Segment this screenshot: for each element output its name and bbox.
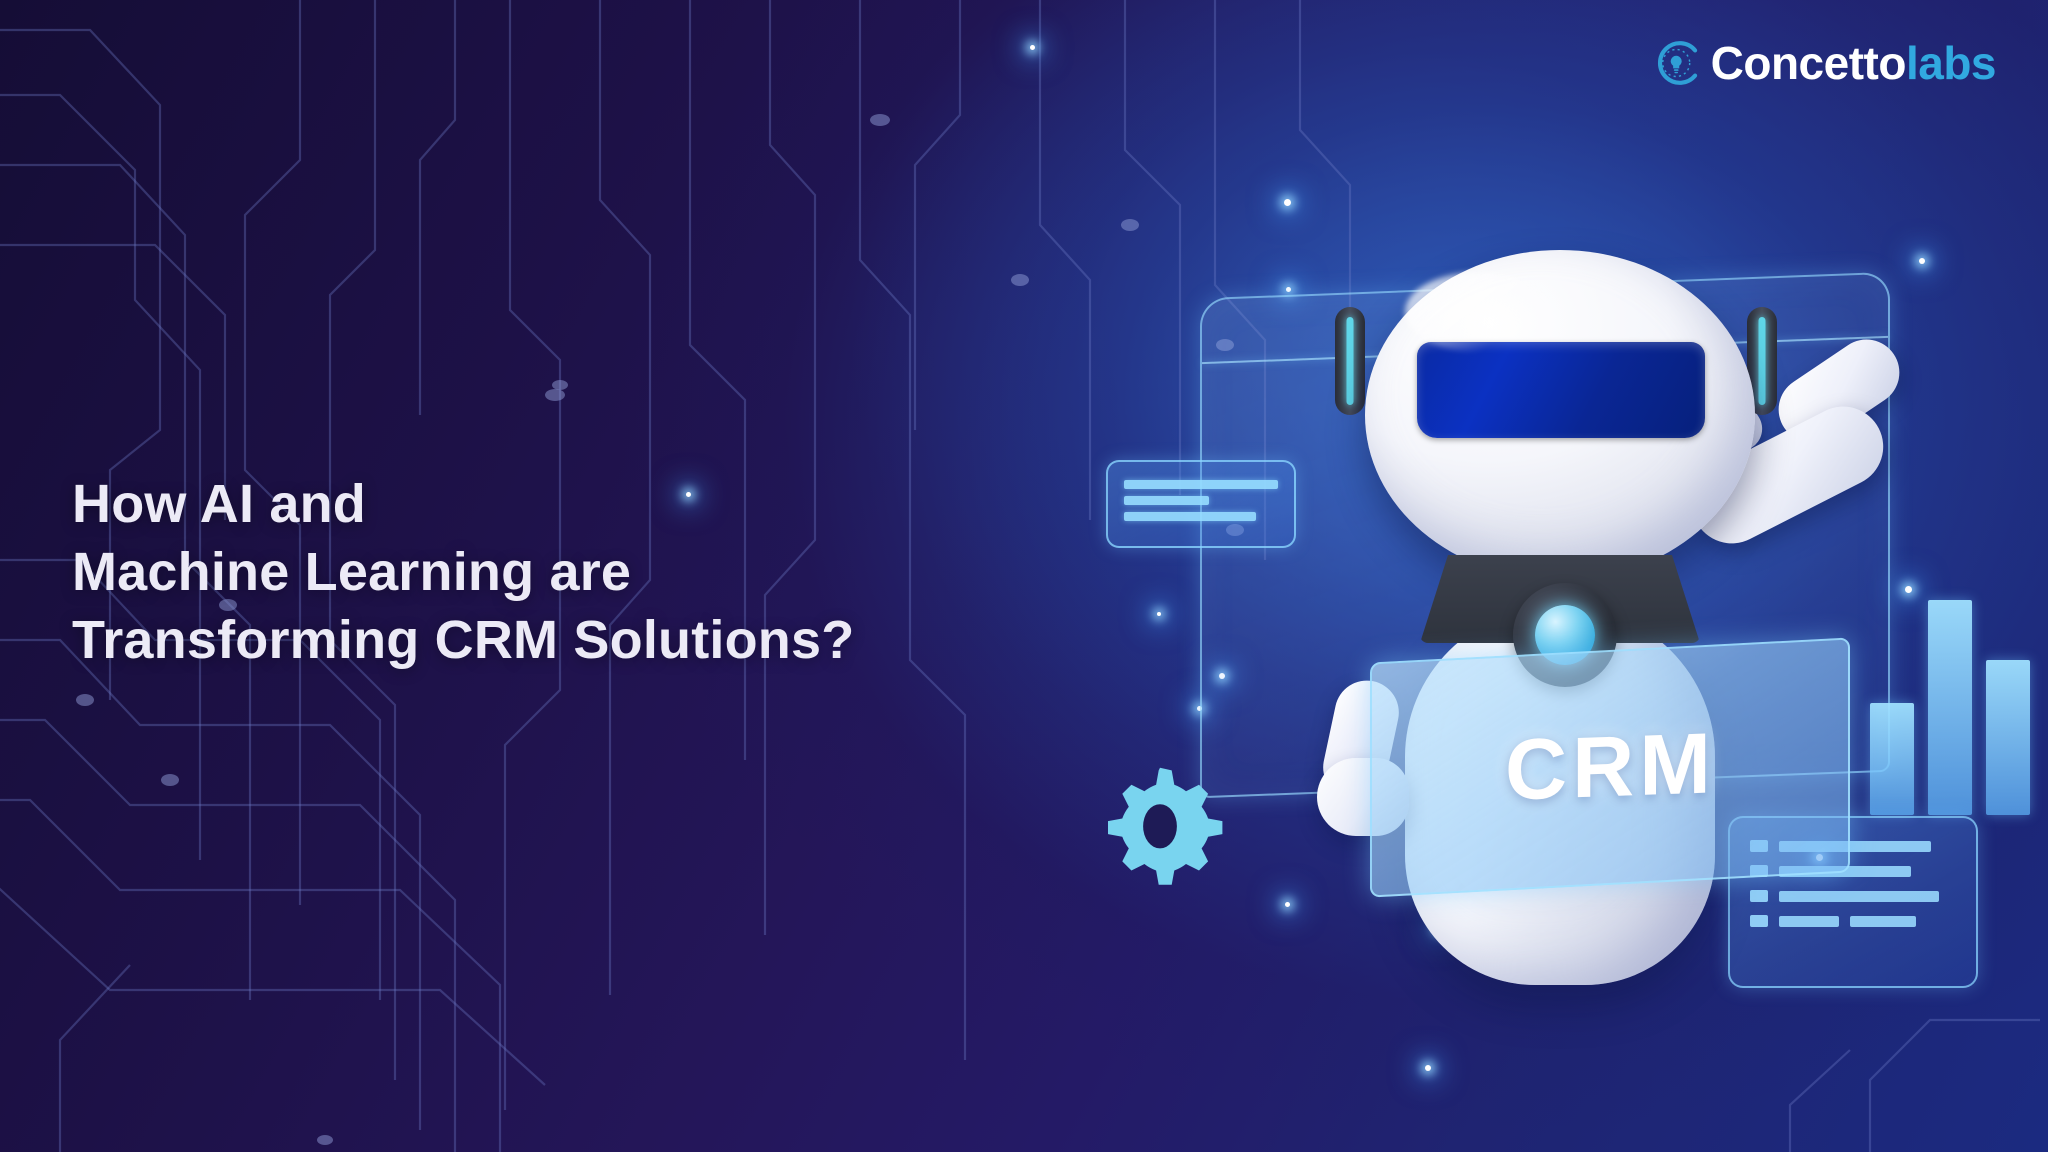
robot-head	[1365, 250, 1755, 580]
head-highlight	[1405, 272, 1555, 352]
card-bar	[1124, 512, 1256, 521]
headline-line-2: Machine Learning are	[72, 538, 854, 606]
card-bar	[1124, 480, 1278, 489]
checklist-line	[1850, 916, 1916, 927]
chart-bar	[1870, 703, 1914, 815]
text-lines-card	[1106, 460, 1296, 548]
robot-ear-left	[1335, 307, 1365, 415]
chart-bar	[1986, 660, 2030, 815]
ai-robot-mascot: CRM	[1295, 155, 1815, 985]
ear-light	[1759, 317, 1766, 405]
ear-light	[1347, 317, 1354, 405]
page-title: How AI and Machine Learning are Transfor…	[72, 470, 854, 674]
headline-line-1: How AI and	[72, 470, 854, 538]
headline-line-3: Transforming CRM Solutions?	[72, 606, 854, 674]
glow-particle	[1030, 45, 1035, 50]
robot-visor	[1417, 342, 1705, 438]
crm-label: CRM	[1505, 714, 1716, 820]
hero-illustration: CRM	[1040, 60, 2048, 1152]
chart-bar	[1928, 600, 1972, 815]
card-bar	[1124, 496, 1209, 505]
gear-icon	[1095, 760, 1225, 890]
crm-panel: CRM	[1370, 637, 1850, 897]
banner-root: Concettolabs How AI and Machine Learning…	[0, 0, 2048, 1152]
bar-chart-icon	[1870, 600, 2030, 815]
